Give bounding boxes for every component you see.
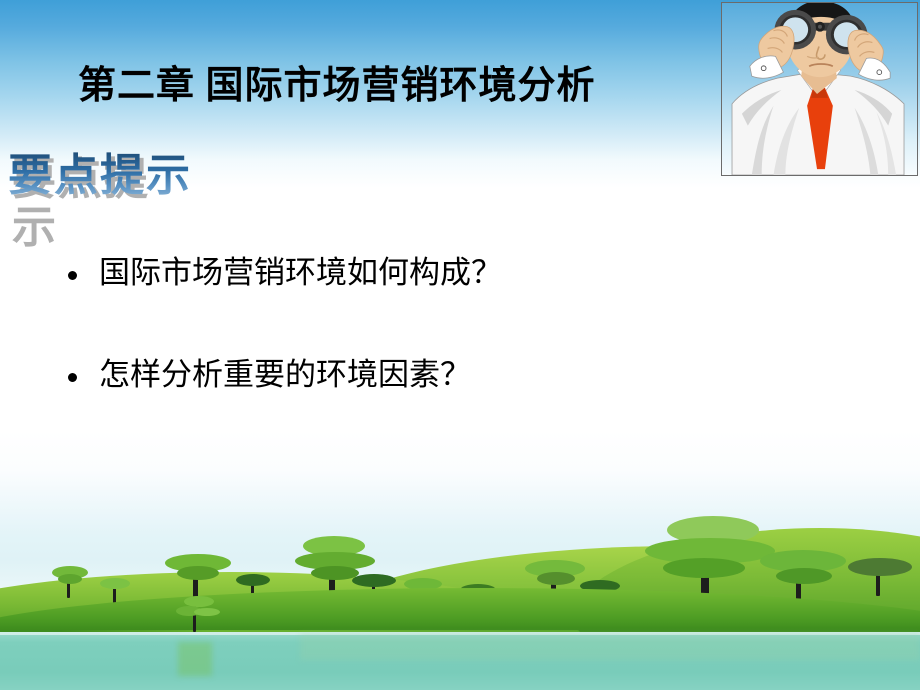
businessman-with-binoculars-image [721,2,918,176]
tree-reflection [178,642,212,676]
tree-canopy [177,566,219,580]
list-item-label: 国际市场营销环境如何构成？ [99,252,502,294]
list-item: 怎样分析重要的环境因素？ [68,354,768,396]
tree-canopy [236,574,270,586]
tree-canopy [848,558,912,576]
section-heading-text: 要点提示 [8,152,192,200]
bullet-dot-icon [68,271,77,280]
list-item-label: 怎样分析重要的环境因素？ [99,354,471,396]
page-title: 第二章 国际市场营销环境分析 [78,54,596,109]
list-item: 国际市场营销环境如何构成？ [68,252,768,294]
tree-canopy [100,578,130,589]
tree-canopy [58,574,82,584]
bullet-dot-icon [68,373,77,382]
presentation-slide: 第二章 国际市场营销环境分析 要点提示 要点提示 国际市场营销环境如何构成？ 怎… [0,0,920,690]
tree-lone-left [176,596,220,632]
tree-medium [165,550,231,598]
businessman-binoculars-icon [722,3,917,175]
tree-small [848,556,912,596]
tree-canopy [663,558,745,578]
tree-canopy [194,608,220,616]
landscape-illustration [0,490,920,690]
bullet-list: 国际市场营销环境如何构成？ 怎样分析重要的环境因素？ [68,252,768,456]
tree-canopy [352,574,396,587]
tree-canopy [537,572,575,585]
tree-canopy [776,568,832,584]
tree-small [100,576,130,604]
section-heading: 要点提示 要点提示 [8,152,192,212]
tree-small [50,564,90,598]
hill-reflection [300,634,920,660]
